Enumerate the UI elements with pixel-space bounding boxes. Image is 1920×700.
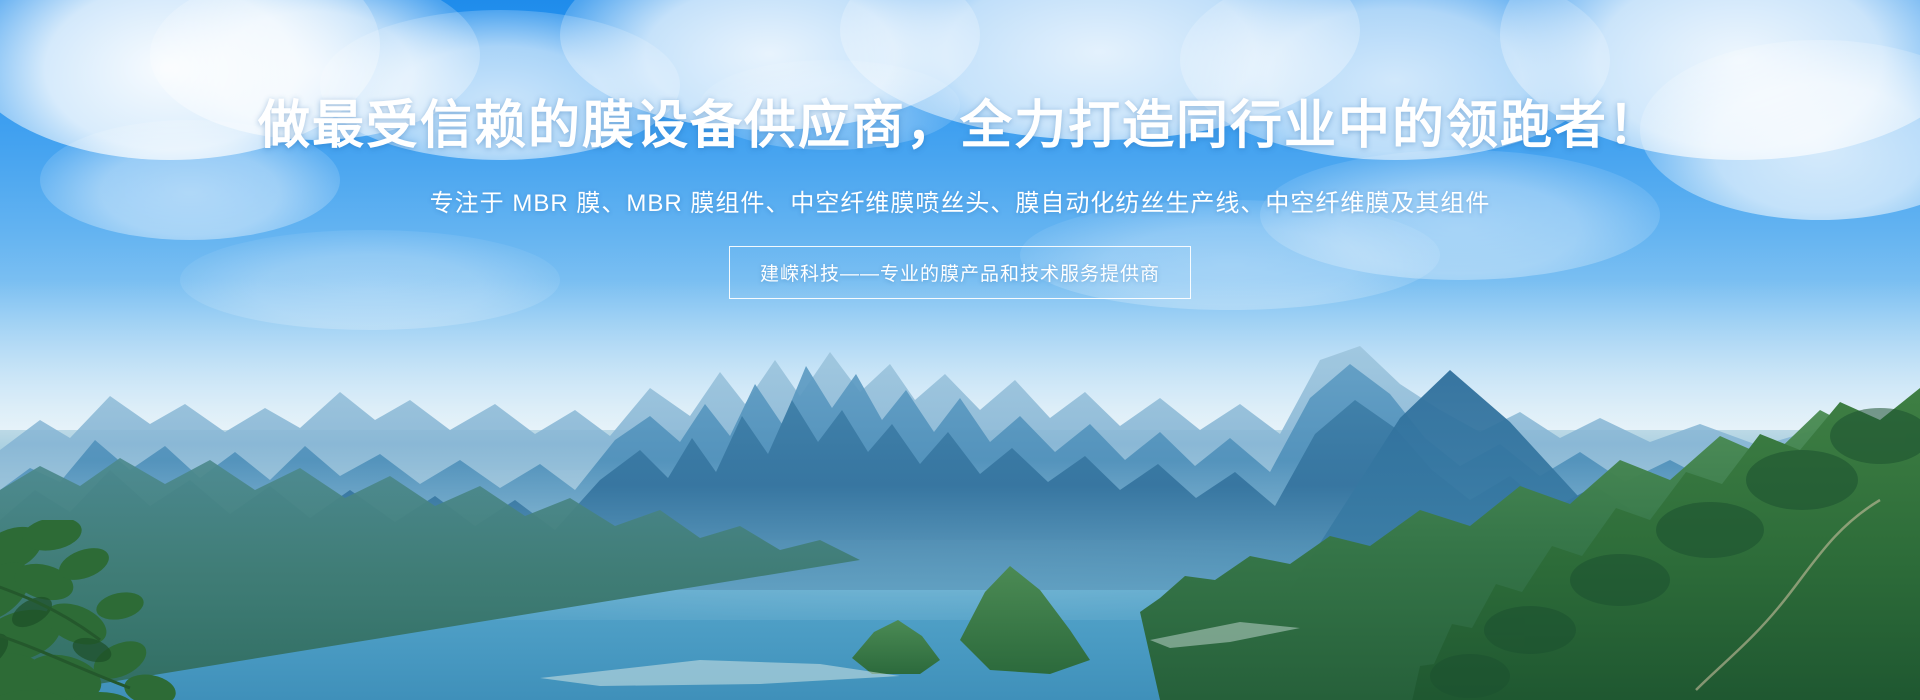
banner-tagline-box: 建嵘科技——专业的膜产品和技术服务提供商 — [729, 246, 1191, 299]
hero-banner: 做最受信赖的膜设备供应商，全力打造同行业中的领跑者！ 专注于 MBR 膜、MBR… — [0, 0, 1920, 700]
banner-tagline-container: 建嵘科技——专业的膜产品和技术服务提供商 — [0, 246, 1920, 299]
banner-headline: 做最受信赖的膜设备供应商，全力打造同行业中的领跑者！ — [0, 98, 1920, 155]
foreground-tree-branch-left — [0, 520, 230, 700]
foreground-forest-right — [1410, 380, 1920, 700]
banner-text-overlay: 做最受信赖的膜设备供应商，全力打造同行业中的领跑者！ 专注于 MBR 膜、MBR… — [0, 0, 1920, 299]
banner-subtitle: 专注于 MBR 膜、MBR 膜组件、中空纤维膜喷丝头、膜自动化纺丝生产线、中空纤… — [0, 183, 1920, 218]
